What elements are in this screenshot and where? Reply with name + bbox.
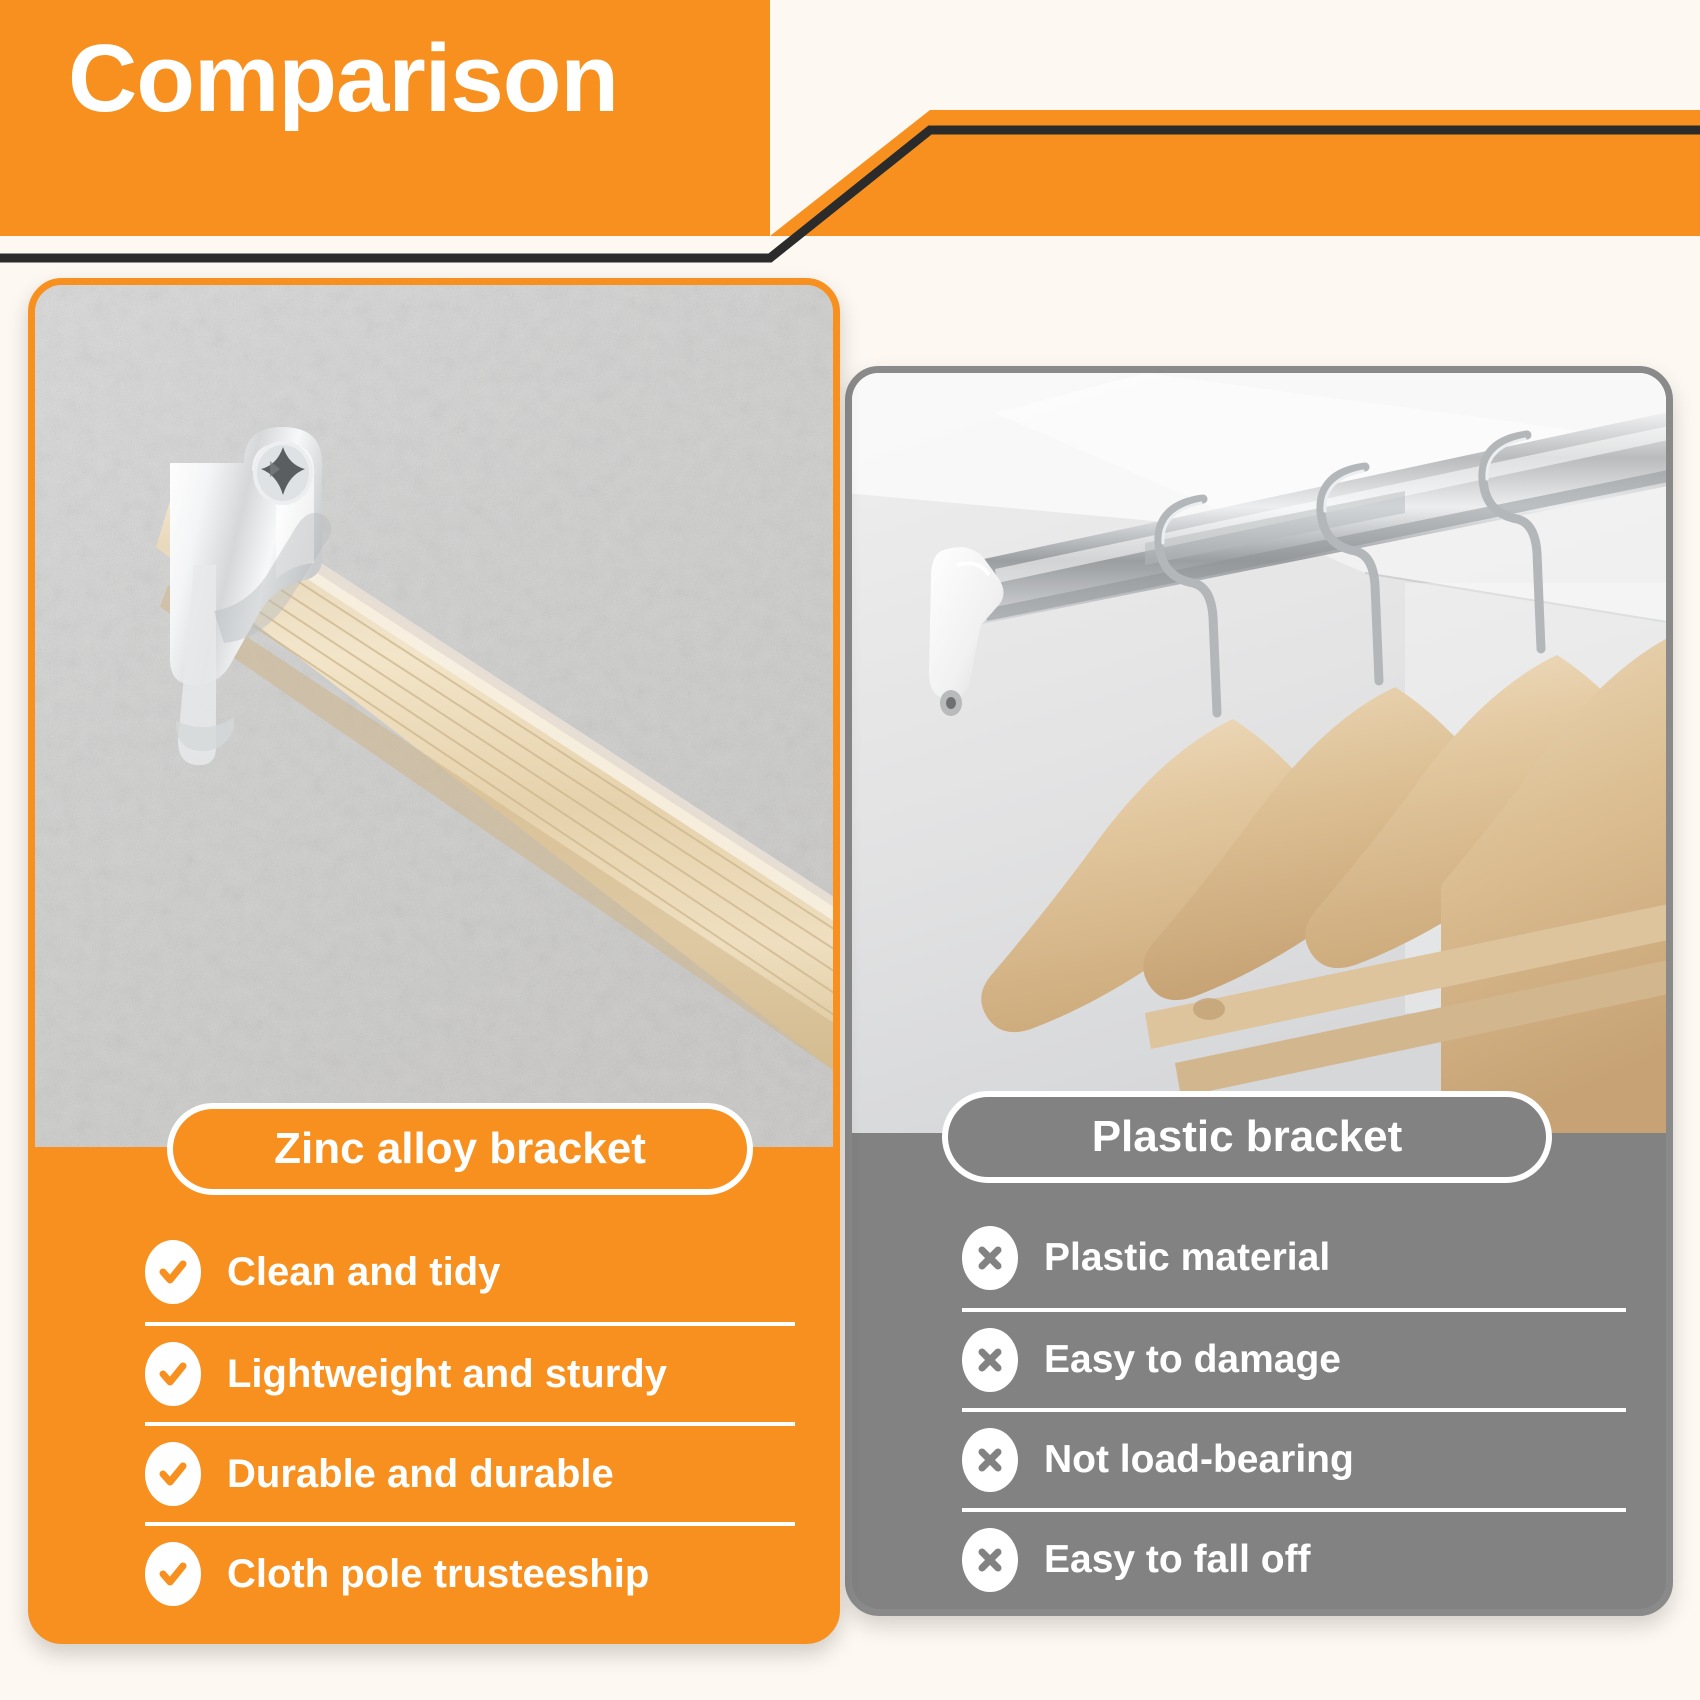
list-item: Durable and durable xyxy=(145,1422,795,1522)
list-item-label: Easy to damage xyxy=(1044,1338,1341,1382)
check-icon xyxy=(145,1342,201,1406)
plastic-feature-list: Plastic material Easy to damage Not load… xyxy=(852,1208,1666,1608)
zinc-alloy-bracket-label: Zinc alloy bracket xyxy=(167,1103,753,1195)
list-item-label: Not load-bearing xyxy=(1044,1438,1354,1482)
list-item-label: Plastic material xyxy=(1044,1236,1330,1280)
list-item: Not load-bearing xyxy=(962,1408,1626,1508)
list-item: Cloth pole trusteeship xyxy=(145,1522,795,1622)
list-item: Easy to damage xyxy=(962,1308,1626,1408)
list-item: Easy to fall off xyxy=(962,1508,1626,1608)
cross-icon xyxy=(962,1528,1018,1592)
zinc-feature-list: Clean and tidy Lightweight and sturdy Du… xyxy=(35,1222,833,1622)
list-item: Lightweight and sturdy xyxy=(145,1322,795,1422)
plastic-bracket-label: Plastic bracket xyxy=(942,1091,1552,1183)
list-item-label: Easy to fall off xyxy=(1044,1538,1311,1582)
cross-icon xyxy=(962,1328,1018,1392)
list-item-label: Clean and tidy xyxy=(227,1250,500,1295)
plastic-bracket-card: Plastic bracket Plastic material Easy to… xyxy=(845,366,1673,1616)
check-icon xyxy=(145,1542,201,1606)
list-item-label: Lightweight and sturdy xyxy=(227,1352,667,1397)
comparison-infographic: Comparison xyxy=(0,0,1700,1700)
header-notch-shape xyxy=(770,0,1700,236)
list-item: Clean and tidy xyxy=(145,1222,795,1322)
cross-icon xyxy=(962,1428,1018,1492)
zinc-alloy-bracket-photo xyxy=(35,285,833,1147)
list-item-label: Cloth pole trusteeship xyxy=(227,1552,649,1597)
check-icon xyxy=(145,1442,201,1506)
list-item: Plastic material xyxy=(962,1208,1626,1308)
plastic-bracket-photo xyxy=(852,373,1666,1133)
check-icon xyxy=(145,1240,201,1304)
page-title: Comparison xyxy=(68,24,618,134)
zinc-alloy-bracket-card: Zinc alloy bracket Clean and tidy Lightw… xyxy=(28,278,840,1644)
cross-icon xyxy=(962,1226,1018,1290)
list-item-label: Durable and durable xyxy=(227,1452,614,1497)
